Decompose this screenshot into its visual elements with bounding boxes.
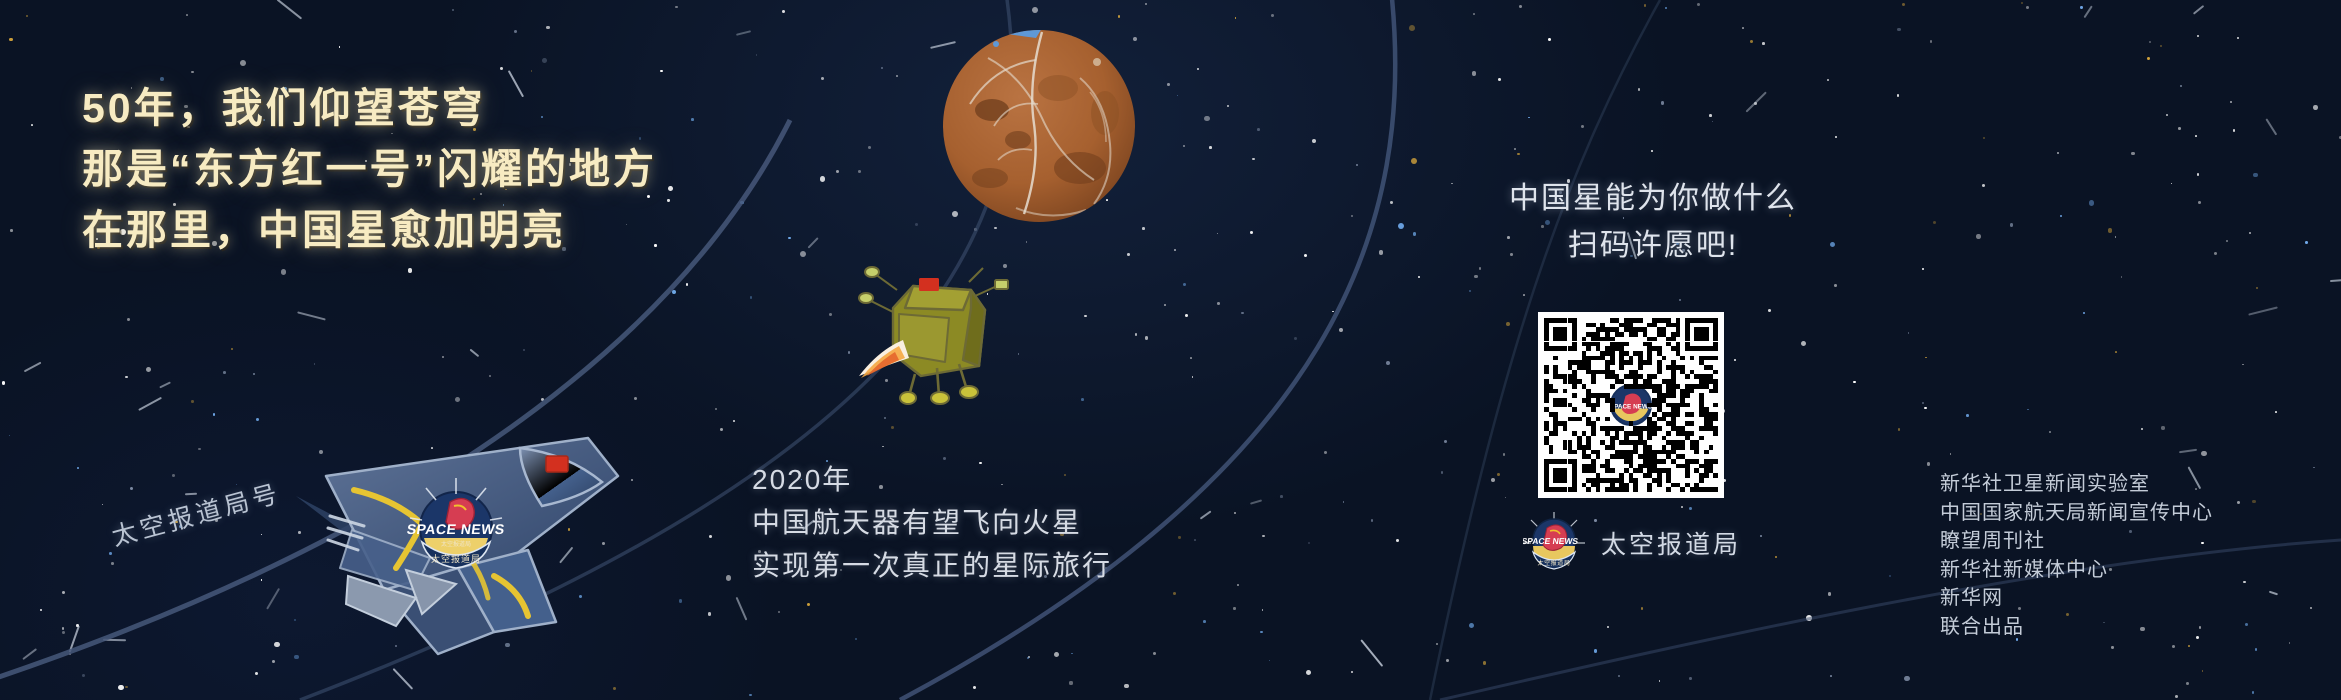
headline-block: 50年，我们仰望苍穹 那是“东方红一号”闪耀的地方 在那里，中国星愈加明亮 [82, 80, 657, 263]
credit-line: 瞭望周刊社 [1940, 527, 2213, 556]
mars-planet-illustration [930, 18, 1148, 230]
credit-line: 新华社新媒体中心 [1940, 556, 2213, 585]
badge-title: SPACE NEWS [1523, 536, 1579, 546]
credits-block: 新华社卫星新闻实验室中国国家航天局新闻宣传中心瞭望周刊社新华社新媒体中心新华网联… [1940, 470, 2213, 641]
ship-emblem-title: SPACE NEWS [406, 521, 506, 537]
qr-logo-title: SPACE NEWS [1610, 404, 1652, 411]
ship-emblem-subtitle: 太空报道局 [441, 540, 471, 548]
ship-emblem-band-label: 太空报道局 [431, 553, 481, 564]
qr-code[interactable]: SPACE NEWS [1538, 312, 1724, 498]
mars-lander-illustration [845, 248, 1025, 413]
credit-line: 联合出品 [1940, 613, 2213, 642]
headline-line-1: 50年，我们仰望苍穹 [82, 80, 657, 136]
cta-line-1: 中国星能为你做什么 [1438, 175, 1868, 222]
caption-line-3: 实现第一次真正的星际旅行 [752, 544, 1112, 587]
caption-line-2: 中国航天器有望飞向火星 [752, 501, 1112, 544]
credit-line: 新华网 [1940, 584, 2213, 613]
qr-code-matrix: SPACE NEWS [1544, 318, 1718, 492]
thruster-flame [859, 340, 909, 378]
space-news-badge-icon: SPACE NEWS 太空报道局 [1523, 512, 1585, 574]
credit-line: 中国国家航天局新闻宣传中心 [1940, 499, 2213, 528]
mission-caption-block: 2020年 中国航天器有望飞向火星 实现第一次真正的星际旅行 [752, 458, 1112, 587]
footer-logo-group: SPACE NEWS 太空报道局 太空报道局 [1523, 512, 1741, 574]
cta-block: 中国星能为你做什么 扫码许愿吧! [1438, 175, 1868, 269]
badge-subtitle: 太空报道局 [1537, 559, 1570, 567]
poster-canvas: SPACE NEWS 太空报道局 太空报道局 50年，我们仰望苍穹 那是“东方红… [0, 0, 2341, 700]
credit-line: 新华社卫星新闻实验室 [1940, 470, 2213, 499]
footer-logo-label: 太空报道局 [1601, 525, 1741, 561]
headline-line-3: 在那里，中国星愈加明亮 [82, 202, 657, 258]
space-plane-illustration: SPACE NEWS 太空报道局 太空报道局 [288, 418, 628, 676]
cta-line-2: 扫码许愿吧! [1438, 222, 1868, 269]
headline-line-2: 那是“东方红一号”闪耀的地方 [82, 141, 657, 197]
caption-line-1: 2020年 [752, 458, 1112, 501]
